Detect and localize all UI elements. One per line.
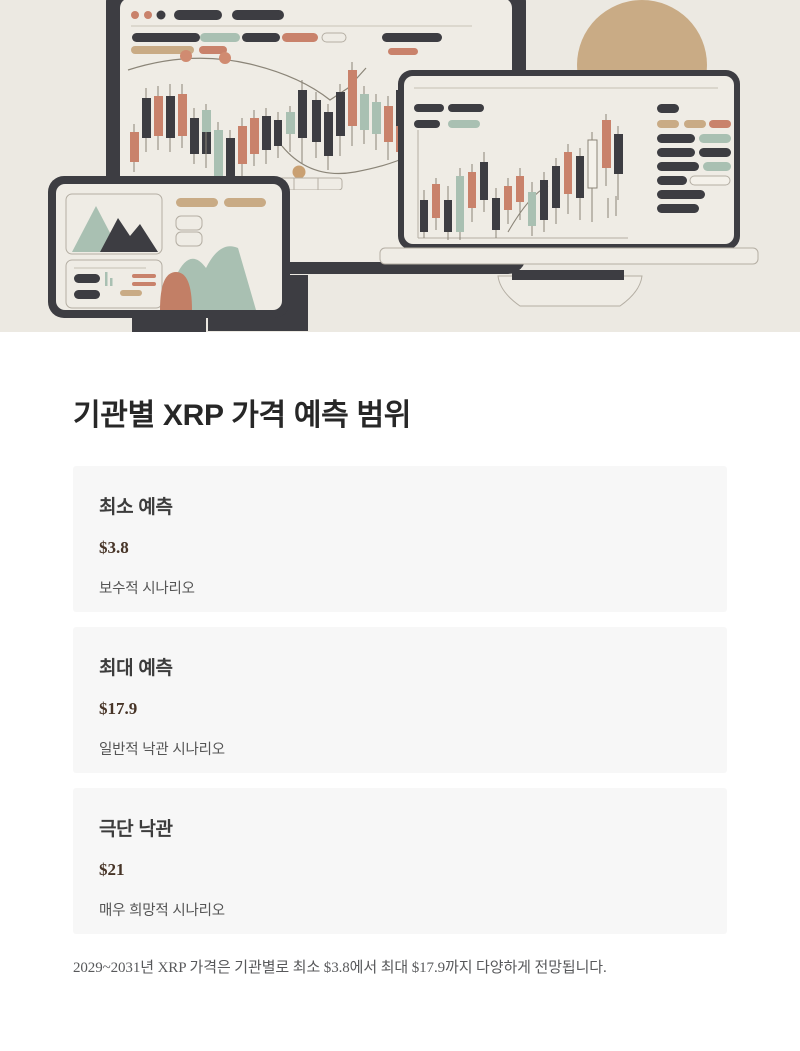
label-pill-tan [224,198,266,207]
label-pill [448,104,484,112]
label-pill [414,104,444,112]
label-pill-sage [448,120,480,128]
page-title: 기관별 XRP 가격 예측 범위 [73,390,727,434]
prediction-card-max: 최대 예측 $17.9 일반적 낙관 시나리오 [73,627,727,773]
label-pill [382,33,442,42]
laptop-stand [498,276,642,306]
mini-bar [105,272,108,286]
trend-dot [293,166,306,179]
hero-illustration [0,0,800,332]
card-description: 매우 희망적 시나리오 [99,899,701,920]
window-dot-dark [157,11,166,20]
prediction-card-extreme: 극단 낙관 $21 매우 희망적 시나리오 [73,788,727,934]
card-title: 극단 낙관 [99,814,701,841]
label-pill-tan [120,290,142,296]
card-description: 일반적 낙관 시나리오 [99,738,701,759]
card-value: $21 [99,860,701,880]
label-pill-outline [322,33,346,42]
label-pill [414,120,440,128]
content-area: 기관별 XRP 가격 예측 범위 최소 예측 $3.8 보수적 시나리오 최대 … [0,332,800,977]
label-pill [74,274,100,283]
label-pill [132,33,200,42]
label-pill-sage [200,33,240,42]
mini-bar [110,278,113,286]
label-pill-salmon [132,282,156,286]
small-monitor-stand [132,318,206,332]
card-description: 보수적 시나리오 [99,577,701,598]
window-dot-red [131,11,139,19]
label-pill [242,33,280,42]
toolbar-pill [174,10,222,20]
toolbar-pill [232,10,284,20]
card-title: 최대 예측 [99,653,701,680]
small-monitor-window [48,176,290,332]
prediction-card-min: 최소 예측 $3.8 보수적 시나리오 [73,466,727,612]
trend-dot [219,52,231,64]
card-value: $3.8 [99,538,701,558]
label-pill [74,290,100,299]
card-value: $17.9 [99,699,701,719]
trend-dot [180,50,192,62]
card-title: 최소 예측 [99,492,701,519]
label-pill-salmon [388,48,418,55]
laptop-base [380,248,758,264]
label-pill-salmon [282,33,318,42]
page-root: 기관별 XRP 가격 예측 범위 최소 예측 $3.8 보수적 시나리오 최대 … [0,0,800,1051]
label-pill-salmon [132,274,156,278]
label-pill-tan [176,198,218,207]
laptop-hinge [512,270,624,280]
footnote-text: 2029~2031년 XRP 가격은 기관별로 최소 $3.8에서 최대 $17… [73,956,727,977]
window-dot-orange [144,11,152,19]
